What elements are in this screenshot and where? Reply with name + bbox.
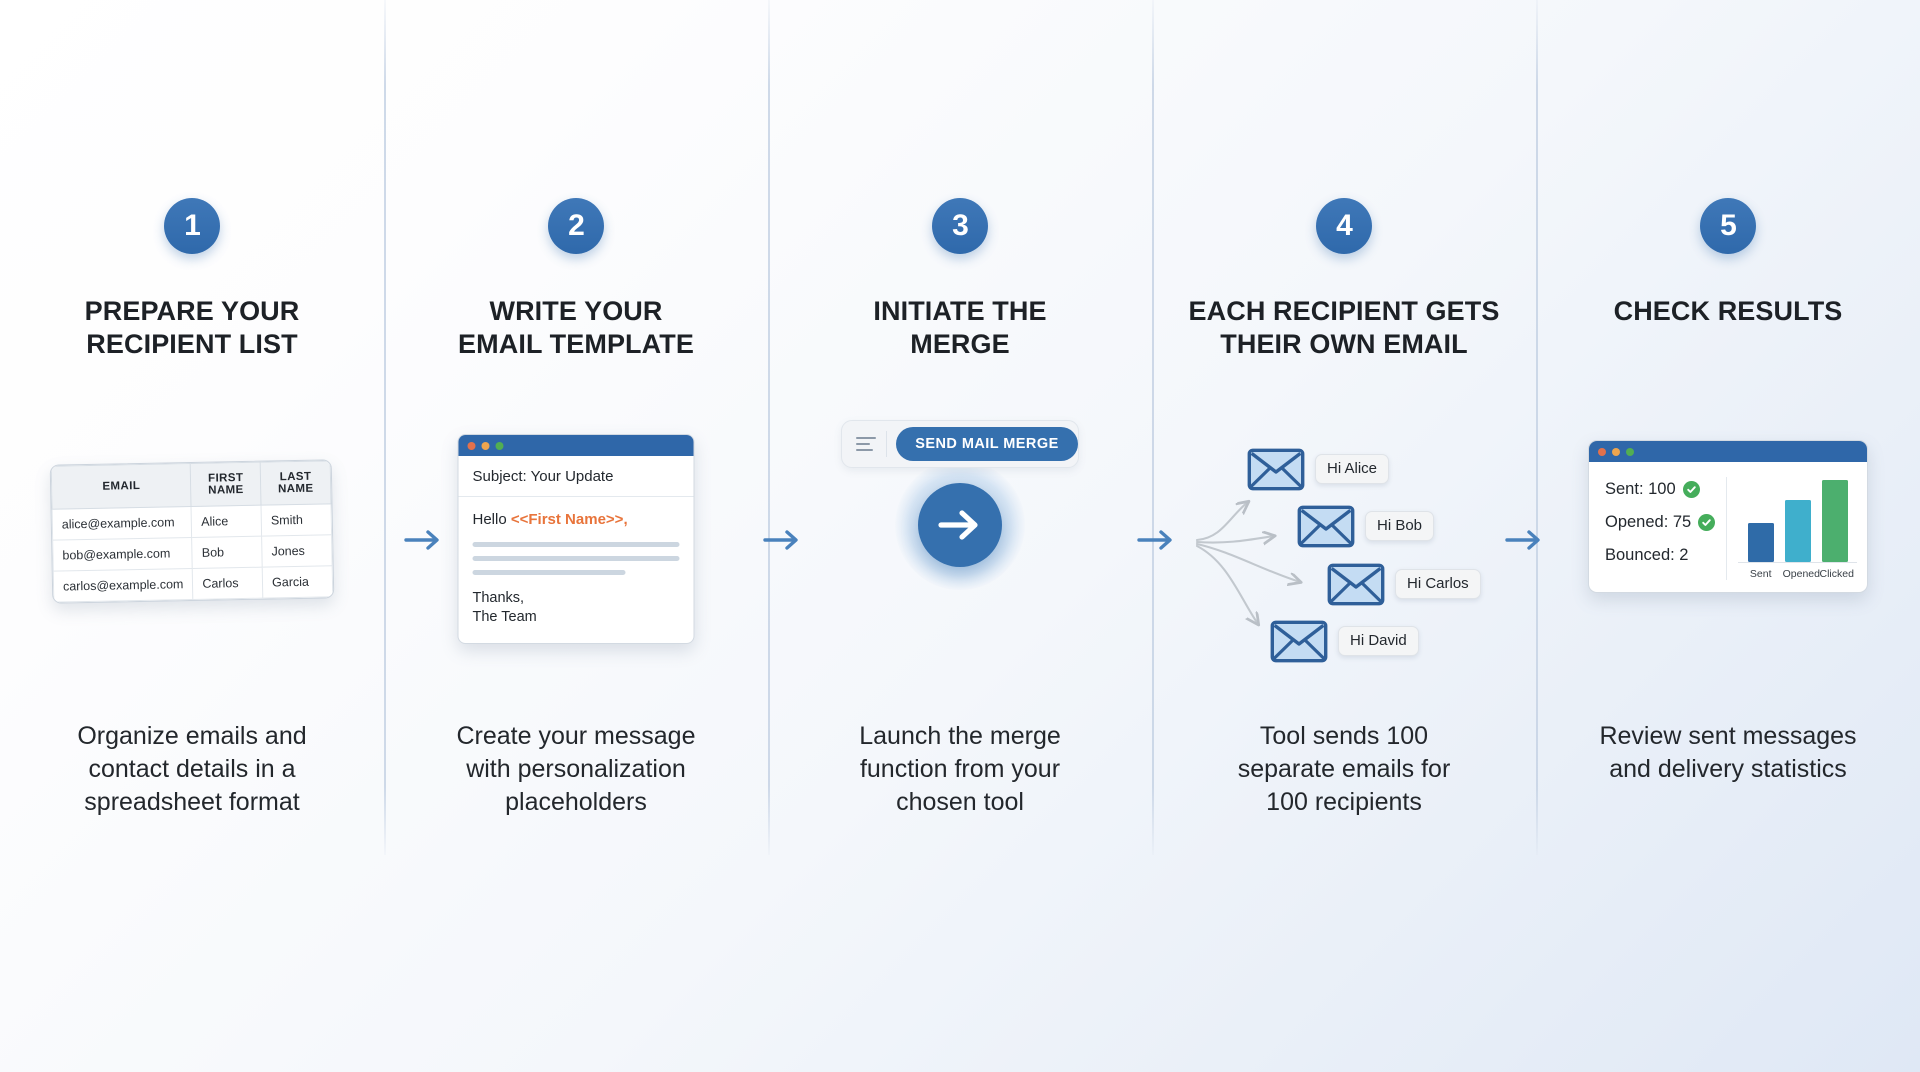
envelope-icon [1327, 563, 1385, 606]
body-text-placeholder-line [473, 570, 626, 575]
cell-email: bob@example.com [53, 538, 193, 572]
recipient-bubble: Hi Bob [1365, 511, 1434, 541]
step-badge-3: 3 [932, 198, 988, 254]
step-column-4: 4 EACH RECIPIENT GETS THEIR OWN EMAIL [1152, 0, 1536, 1072]
cell-last-name: Garcia [262, 566, 332, 598]
recipient-envelope [1247, 448, 1305, 491]
stat-label: Sent: 100 [1605, 480, 1676, 499]
step-description-2: Create your message with personalization… [384, 720, 768, 819]
step-badge-4: 4 [1316, 198, 1372, 254]
results-stats-list: Sent: 100 Opened: 75 Bounc [1605, 477, 1715, 580]
email-signature: Thanks, The Team [473, 589, 680, 627]
chart-tick-label: Sent [1746, 568, 1776, 580]
cell-last-name: Jones [262, 535, 332, 567]
chart-plot-area [1738, 477, 1857, 563]
stat-row-sent: Sent: 100 [1605, 480, 1715, 499]
arrow-right-icon [937, 508, 983, 542]
chart-tick-label: Opened [1783, 568, 1813, 580]
results-body: Sent: 100 Opened: 75 Bounc [1589, 462, 1867, 592]
recipient-envelope [1327, 563, 1385, 606]
envelope-icon [1247, 448, 1305, 491]
recipient-envelope [1297, 505, 1355, 548]
body-text-placeholder-line [473, 556, 680, 561]
cell-first-name: Carlos [193, 567, 263, 599]
step-description-3: Launch the merge function from your chos… [768, 720, 1152, 819]
window-close-dot-icon[interactable] [1598, 448, 1606, 456]
recipient-bubble: Hi David [1338, 626, 1419, 656]
step-heading-3: INITIATE THE MERGE [768, 295, 1152, 361]
stat-row-opened: Opened: 75 [1605, 513, 1715, 532]
step-heading-4: EACH RECIPIENT GETS THEIR OWN EMAIL [1152, 295, 1536, 361]
column-header-email: EMAIL [51, 464, 191, 510]
window-titlebar [1589, 441, 1867, 462]
launch-merge-button[interactable] [918, 483, 1002, 567]
window-minimize-dot-icon[interactable] [1612, 448, 1620, 456]
step-description-4: Tool sends 100 separate emails for 100 r… [1152, 720, 1536, 819]
step-visual-3: SEND MAIL MERGE [768, 420, 1152, 670]
recipient-bubble: Hi Alice [1315, 454, 1389, 484]
step-visual-1: EMAIL FIRST NAME LAST NAME alice@example… [0, 420, 384, 670]
column-header-last-name: LAST NAME [260, 461, 331, 505]
greeting-suffix: , [623, 511, 627, 528]
cell-email: alice@example.com [52, 507, 192, 541]
recipient-spreadsheet: EMAIL FIRST NAME LAST NAME alice@example… [50, 459, 335, 603]
step-badge-5: 5 [1700, 198, 1756, 254]
flow-arrow-2-3 [763, 527, 803, 553]
launch-merge-control[interactable] [895, 460, 1025, 590]
step-visual-4: Hi Alice Hi Bob Hi Carlos [1152, 420, 1536, 670]
chart-bar-group [1783, 500, 1813, 562]
chart-bar-group [1820, 480, 1850, 562]
recipient-table: EMAIL FIRST NAME LAST NAME alice@example… [51, 460, 334, 602]
step-heading-1: PREPARE YOUR RECIPIENT LIST [0, 295, 384, 361]
stat-label: Bounced: 2 [1605, 546, 1688, 565]
chart-tick-label: Clicked [1820, 568, 1850, 580]
step-column-3: 3 INITIATE THE MERGE SEND MAIL MERGE Lau… [768, 0, 1152, 1072]
step-description-5: Review sent messages and delivery statis… [1536, 720, 1920, 786]
step-heading-2: WRITE YOUR EMAIL TEMPLATE [384, 295, 768, 361]
merge-toolbar: SEND MAIL MERGE [841, 420, 1079, 468]
step-column-1: 1 PREPARE YOUR RECIPIENT LIST EMAIL FIRS… [0, 0, 384, 1072]
step-column-5: 5 CHECK RESULTS Sent: 100 [1536, 0, 1920, 1072]
chart-bar-group [1746, 523, 1776, 562]
email-subject-line: Subject: Your Update [459, 456, 694, 497]
step-description-1: Organize emails and contact details in a… [0, 720, 384, 819]
flow-arrow-3-4 [1137, 527, 1177, 553]
cell-last-name: Smith [261, 504, 331, 536]
email-template-window: Subject: Your Update Hello <<First Name>… [458, 434, 695, 644]
table-header-row: EMAIL FIRST NAME LAST NAME [51, 461, 331, 509]
email-body: Hello <<First Name>>, Thanks, The Team [459, 497, 694, 643]
chart-x-tick-labels: Sent Opened Clicked [1738, 563, 1857, 580]
window-titlebar [459, 435, 694, 456]
envelope-icon [1270, 620, 1328, 663]
stat-row-bounced: Bounced: 2 [1605, 546, 1715, 565]
results-divider [1726, 477, 1727, 580]
step-heading-5: CHECK RESULTS [1536, 295, 1920, 328]
check-circle-icon [1683, 481, 1700, 498]
results-window: Sent: 100 Opened: 75 Bounc [1588, 440, 1868, 593]
check-circle-icon [1698, 514, 1715, 531]
chart-bar [1785, 500, 1811, 562]
cell-first-name: Bob [192, 536, 262, 568]
chart-bar [1822, 480, 1848, 562]
recipient-envelope [1270, 620, 1328, 663]
body-text-placeholder-line [473, 542, 680, 547]
flow-arrow-4-5 [1505, 527, 1545, 553]
column-header-first-name: FIRST NAME [191, 462, 262, 506]
cell-email: carlos@example.com [53, 568, 193, 602]
chart-bar [1748, 523, 1774, 562]
results-bar-chart: Sent Opened Clicked [1738, 477, 1857, 580]
toolbar-divider [886, 431, 887, 457]
window-minimize-dot-icon[interactable] [482, 442, 490, 450]
window-close-dot-icon[interactable] [468, 442, 476, 450]
step-badge-2: 2 [548, 198, 604, 254]
recipient-bubble: Hi Carlos [1395, 569, 1481, 599]
step-badge-1: 1 [164, 198, 220, 254]
step-visual-5: Sent: 100 Opened: 75 Bounc [1536, 420, 1920, 670]
greeting-prefix: Hello [473, 511, 511, 528]
window-maximize-dot-icon[interactable] [496, 442, 504, 450]
window-maximize-dot-icon[interactable] [1626, 448, 1634, 456]
email-greeting: Hello <<First Name>>, [473, 511, 680, 528]
cell-first-name: Alice [191, 505, 261, 537]
merge-placeholder-token: <<First Name>> [511, 511, 624, 528]
send-mail-merge-button[interactable]: SEND MAIL MERGE [896, 427, 1078, 461]
stat-label: Opened: 75 [1605, 513, 1691, 532]
flow-arrow-1-2 [404, 527, 444, 553]
table-row: carlos@example.com Carlos Garcia [53, 566, 333, 602]
menu-lines-icon[interactable] [842, 437, 886, 452]
envelope-icon [1297, 505, 1355, 548]
